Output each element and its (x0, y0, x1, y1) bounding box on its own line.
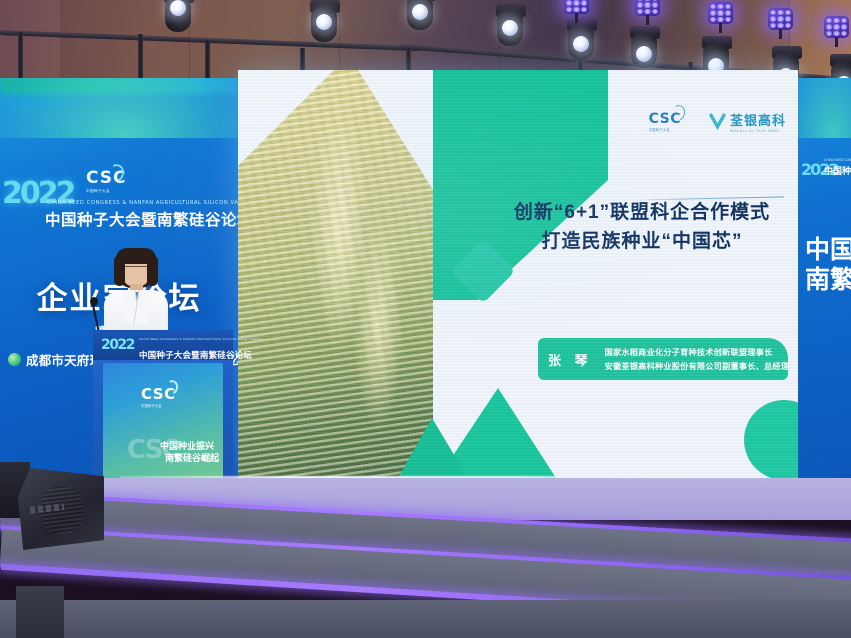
podium-header-cn: 中国种子大会暨南繁硅谷论坛 (139, 350, 252, 360)
banner-english-title: CHINA SEED CONGRESS (824, 158, 851, 162)
banner-top-glow (0, 78, 238, 138)
banner-english-title: CHINA SEED CONGRESS & NANFAN AGRICULTURA… (47, 200, 237, 206)
banner-top-glow (798, 78, 851, 138)
par-stem (835, 37, 838, 47)
banner-chinese-title: 中国种子大会 (824, 164, 851, 177)
podium-slogan-line-2: 南繁硅谷崛起 (165, 451, 219, 464)
par-stem (575, 13, 578, 23)
podium-header-en: CHINA SEED CONGRESS & NANFAN AGRICULTURA… (139, 337, 262, 341)
par-head (824, 16, 849, 38)
winall-chevron-icon (709, 113, 726, 130)
par-stem (719, 23, 722, 33)
light-lens (412, 4, 428, 20)
winall-logo-sub: WIN-ALL HI-TECH SEED (730, 129, 786, 133)
light-lens (316, 14, 332, 30)
slide-title-line2: 打造民族种业“中国芯” (506, 227, 778, 256)
led-presentation-screen: CSC 中国种子大会 荃银高科 WIN-ALL HI-TECH SEED 创新“… (238, 70, 798, 478)
par-head (708, 2, 733, 24)
slide-logo-bar: CSC 中国种子大会 荃银高科 WIN-ALL HI-TECH SEED (649, 110, 786, 133)
par-stem (646, 15, 649, 25)
par-light (708, 2, 733, 24)
speaker-info-bar: 张 琴 国家水稻商业化分子育种技术创新联盟理事长 安徽荃银高科种业股份有限公司副… (538, 338, 788, 380)
par-stem (779, 29, 782, 39)
banner-chinese-title: 中国种子大会暨南繁硅谷论坛 (45, 208, 237, 230)
speaker-roles: 国家水稻商业化分子育种技术创新联盟理事长 安徽荃银高科种业股份有限公司副董事长、… (605, 346, 790, 372)
winall-logo: 荃银高科 WIN-ALL HI-TECH SEED (709, 110, 786, 133)
slide-title: 创新“6+1”联盟科企合作模式 打造民族种业“中国芯” (506, 198, 778, 257)
person-hair-right (147, 256, 158, 286)
podium-header: 2022 CHINA SEED CONGRESS & NANFAN AGRICU… (93, 330, 233, 360)
light-lens (170, 0, 186, 16)
par-light (824, 16, 849, 38)
podium-header-text: CHINA SEED CONGRESS & NANFAN AGRICULTURA… (139, 327, 262, 363)
csc-swirl-icon (668, 103, 687, 123)
par-light (564, 0, 589, 14)
speaker-name: 张 琴 (548, 350, 593, 369)
speaker-role-2: 安徽荃银高科种业股份有限公司副董事长、总经理 (605, 360, 790, 372)
csc-logo-sub: 中国种子大会 (141, 403, 176, 408)
winall-logo-text: 荃银高科 WIN-ALL HI-TECH SEED (730, 110, 786, 133)
csc-logo: CSC 中国种子大会 (649, 111, 681, 132)
microphone-head (90, 297, 98, 306)
right-event-banner: 2022 CHINA SEED CONGRESS 中国种子大会 中国 南繁 (798, 78, 851, 508)
banner-big-line-2: 南繁 (805, 260, 851, 296)
light-lens (502, 20, 518, 36)
par-light (635, 0, 660, 16)
csc-logo-sub: 中国种子大会 (86, 189, 127, 194)
light-lens (636, 46, 652, 62)
slide-title-line1: 创新“6+1”联盟科企合作模式 (506, 198, 778, 227)
speaker-role-1: 国家水稻商业化分子育种技术创新联盟理事长 (605, 346, 790, 358)
person-glasses (123, 266, 149, 272)
person-hair-left (114, 256, 125, 286)
stage-floor-lower (0, 600, 851, 638)
par-light (768, 8, 793, 30)
csc-logo-sub: 中国种子大会 (649, 127, 681, 132)
light-lens (573, 36, 589, 52)
par-head (768, 8, 793, 30)
par-head (564, 0, 589, 14)
sponsor-logo-icon (8, 353, 21, 366)
stage-scene: 2022 CSC 中国种子大会 CHINA SEED CONGRESS & NA… (0, 0, 851, 638)
par-head (635, 0, 660, 16)
year-logo-2022: 2022 (101, 337, 134, 353)
slide-circle-accent (744, 400, 798, 478)
stage-riser-block (16, 586, 64, 638)
